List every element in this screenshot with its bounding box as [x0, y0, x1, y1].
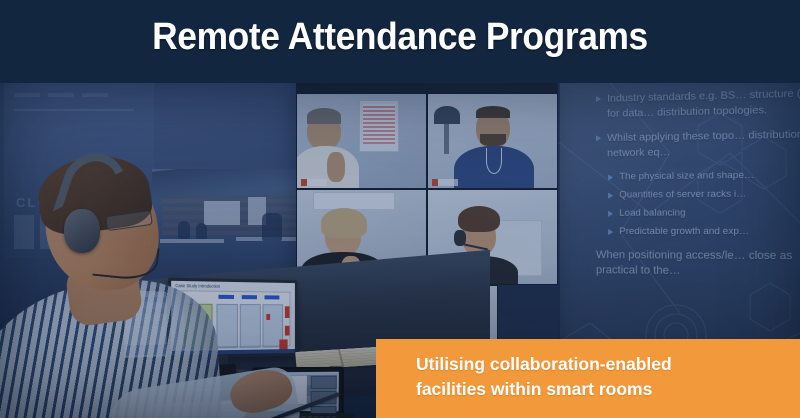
slide-paragraph: When positioning access/le… close as pra… — [596, 248, 800, 280]
caption-line-1: Utilising collaboration-enabled — [416, 352, 786, 377]
slide-bullet-3: The physical size and shape… — [608, 168, 800, 184]
caption-banner: Utilising collaboration-enabled faciliti… — [376, 339, 800, 418]
slide-bullet-2: Whilst applying these topo… distribution… — [596, 126, 800, 160]
video-tile-1 — [296, 93, 427, 189]
slide-bullet-6: Predictable growth and exp… — [608, 225, 800, 239]
slide-bullet-1: Industry standards e.g. BS… structure (m… — [596, 85, 800, 121]
slide-bullets: Industry standards e.g. BS… structure (m… — [596, 85, 800, 280]
headset-microphone-boom — [92, 242, 159, 283]
video-tile-2 — [427, 93, 558, 189]
slide-bullet-4: Quantities of server racks i… — [608, 187, 800, 202]
header-bar: Remote Attendance Programs — [0, 0, 800, 83]
slide-bullet-5: Load balancing — [608, 206, 800, 220]
caption-text: Utilising collaboration-enabled faciliti… — [416, 352, 786, 402]
video-wall-bezel-top — [296, 83, 558, 93]
instructor-figure — [0, 133, 290, 418]
caption-line-2: facilities within smart rooms — [416, 377, 786, 402]
promo-banner: Remote Attendance Programs — [0, 0, 800, 418]
page-title: Remote Attendance Programs — [28, 16, 772, 59]
